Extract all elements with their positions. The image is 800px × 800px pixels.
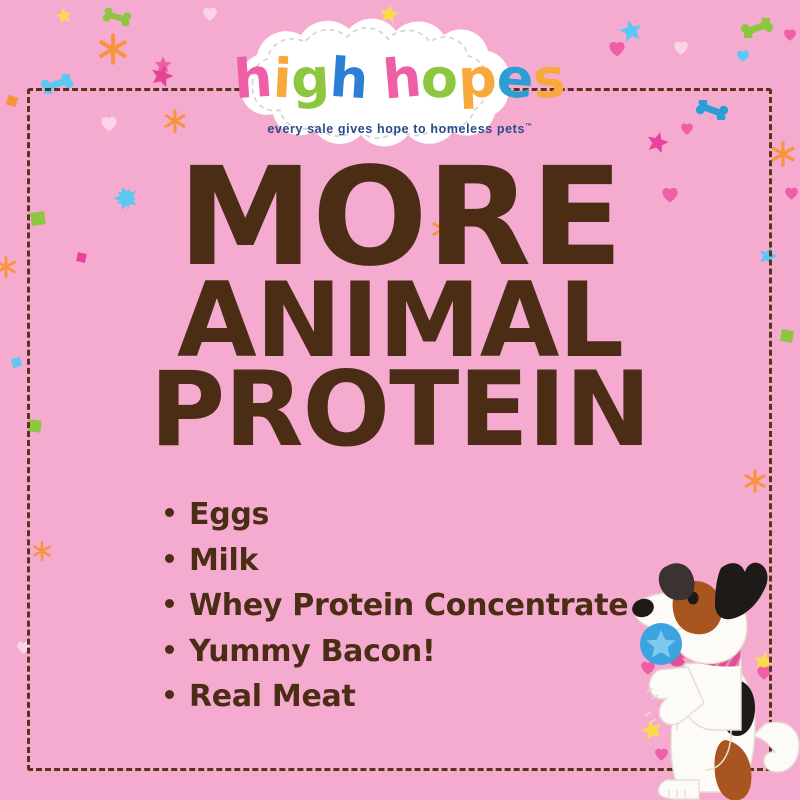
logo-letter-s: s xyxy=(532,51,568,107)
dog-illustration xyxy=(625,552,800,800)
list-item: Whey Protein Concentrate xyxy=(165,583,685,629)
star-icon xyxy=(618,18,644,44)
list-item-label: Milk xyxy=(189,538,258,584)
heart-icon xyxy=(202,6,218,22)
high-hopes-logo: h i g h h o p e s every sale gives hope … xyxy=(205,22,595,147)
star-icon xyxy=(149,63,175,89)
logo-letter-e: e xyxy=(495,51,535,107)
square-confetti xyxy=(6,95,19,108)
heart-icon xyxy=(608,40,626,58)
dog-rear-foot xyxy=(658,780,699,799)
poster-canvas: h i g h h o p e s every sale gives hope … xyxy=(0,0,800,800)
logo-tagline-text: every sale gives hope to homeless pets xyxy=(267,122,525,136)
list-item: Milk xyxy=(165,538,685,584)
logo-letter-h2: h xyxy=(328,51,370,108)
heart-icon xyxy=(673,40,689,56)
logo-letter-o: o xyxy=(420,51,460,107)
headline-line-3: PROTEIN xyxy=(0,366,800,455)
logo-letter-g: g xyxy=(290,51,331,107)
bullet-dot-icon xyxy=(165,690,174,699)
logo-letter-h1: h xyxy=(233,51,275,108)
bullet-dot-icon xyxy=(165,645,174,654)
list-item: Real Meat xyxy=(165,674,685,720)
bullet-dot-icon xyxy=(165,508,174,517)
bullet-dot-icon xyxy=(165,599,174,608)
star-icon xyxy=(55,7,73,25)
ingredient-list: Eggs Milk Whey Protein Concentrate Yummy… xyxy=(165,492,685,720)
logo-letter-p: p xyxy=(457,51,498,107)
list-item-label: Yummy Bacon! xyxy=(189,629,435,675)
trademark-symbol: ™ xyxy=(525,123,533,130)
list-item-label: Eggs xyxy=(189,492,269,538)
list-item: Yummy Bacon! xyxy=(165,629,685,675)
bone-icon xyxy=(102,8,132,26)
dog-ear-back xyxy=(715,563,768,620)
logo-tagline: every sale gives hope to homeless pets™ xyxy=(205,122,595,136)
star-icon xyxy=(153,55,173,75)
list-item-label: Real Meat xyxy=(189,674,356,720)
heart-icon xyxy=(783,28,797,42)
bullet-dot-icon xyxy=(165,554,174,563)
dog-tail xyxy=(753,722,799,772)
bone-icon xyxy=(740,18,774,38)
sparkle-icon xyxy=(96,32,130,66)
logo-letter-h3: h xyxy=(380,50,423,107)
heart-icon xyxy=(736,49,750,63)
list-item-label: Whey Protein Concentrate xyxy=(189,583,628,629)
list-item: Eggs xyxy=(165,492,685,538)
logo-wordmark: h i g h h o p e s xyxy=(205,48,595,110)
headline-line-1: MORE xyxy=(0,160,800,277)
headline: MORE ANIMAL PROTEIN xyxy=(0,160,800,454)
jack-russell-terrier-graphic xyxy=(625,552,800,800)
